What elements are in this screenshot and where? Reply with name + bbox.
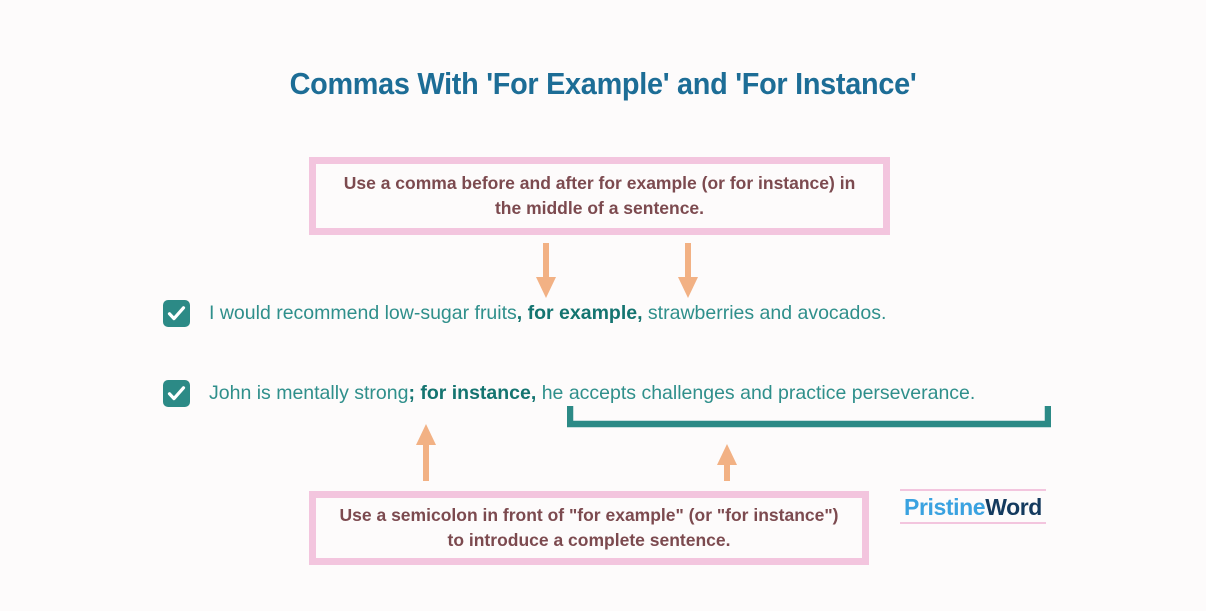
example-2-before: John is mentally strong [209,382,408,404]
callout-top-text: Use a comma before and after for example… [316,171,883,222]
arrow-up-clause-icon [714,444,740,481]
example-1-highlight: , for example, [517,302,643,324]
arrow-down-comma-before-icon [533,243,559,298]
example-2-highlight: ; for instance, [408,382,536,404]
example-1-before: I would recommend low-sugar fruits [209,302,517,324]
example-sentence-1: I would recommend low-sugar fruits, for … [209,302,886,325]
example-2-after: he accepts challenges and practice perse… [536,382,975,404]
example-sentence-row-2: John is mentally strong; for instance, h… [163,380,975,407]
example-1-after: strawberries and avocados. [643,302,887,324]
callout-bottom-text: Use a semicolon in front of "for example… [316,503,862,554]
brand-logo-part-two: Word [985,494,1042,520]
checkbox-checked-icon-2 [163,380,190,407]
example-sentence-row-1: I would recommend low-sugar fruits, for … [163,300,886,327]
example-sentence-2: John is mentally strong; for instance, h… [209,382,975,405]
checkbox-checked-icon-1 [163,300,190,327]
arrow-up-semicolon-icon [413,424,439,481]
arrow-down-comma-after-icon [675,243,701,298]
callout-box-bottom: Use a semicolon in front of "for example… [309,491,869,565]
complete-sentence-bracket-icon [567,406,1051,430]
infographic-canvas: Commas With 'For Example' and 'For Insta… [0,0,1206,611]
page-title: Commas With 'For Example' and 'For Insta… [42,66,1164,102]
callout-box-top: Use a comma before and after for example… [309,157,890,235]
brand-logo-part-one: Pristine [904,494,985,520]
brand-logo: PristineWord [900,489,1046,524]
